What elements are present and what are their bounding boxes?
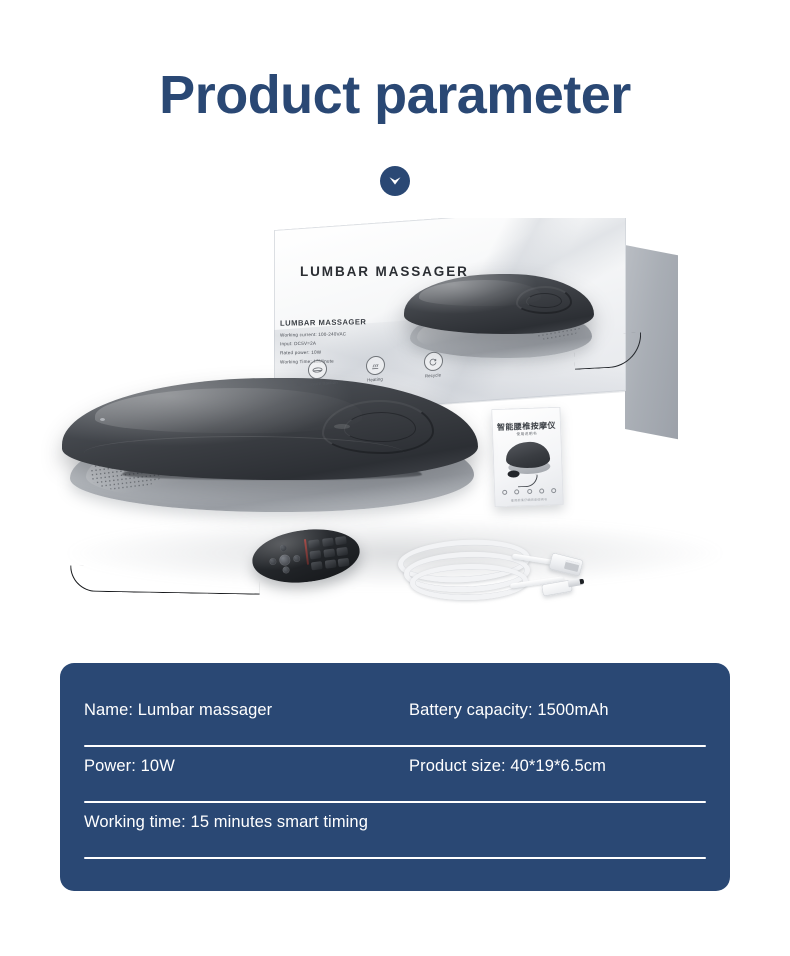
manual-footer: 使用前请仔细阅读说明书 <box>494 497 563 503</box>
spec-row: Working time: 15 minutes smart timing <box>84 813 706 869</box>
lumbar-massager-device <box>62 378 482 513</box>
cycle-icon <box>424 351 443 371</box>
chevron-down-icon[interactable] <box>380 166 410 196</box>
device-upper-shell <box>62 378 478 480</box>
manual-subtitle: 使用说明书 <box>492 431 561 438</box>
spec-panel: Name: Lumbar massager Battery capacity: … <box>60 663 730 891</box>
spec-row: Power: 10W Product size: 40*19*6.5cm <box>84 757 706 813</box>
air-pressure-traction-icon <box>308 359 327 379</box>
manual-device-illustration <box>505 441 550 469</box>
remote-key <box>322 538 334 548</box>
spec-product-size: Product size: 40*19*6.5cm <box>409 757 606 776</box>
spec-divider <box>84 857 706 859</box>
remote-dpad <box>267 544 304 576</box>
spec-battery-capacity: Battery capacity: 1500mAh <box>409 701 609 720</box>
manual-icon <box>502 490 507 495</box>
box-side-title: LUMBAR MASSAGER <box>280 317 366 328</box>
heating-icon <box>366 355 385 375</box>
feature-badge: Recycle <box>410 350 456 380</box>
box-side-spec: Rated power: 10W <box>280 350 321 356</box>
remote-control-cord <box>70 565 260 594</box>
instruction-manual: 智能腰椎按摩仪 使用说明书 使用前请仔细阅读说明书 <box>491 407 563 507</box>
spec-name: Name: Lumbar massager <box>84 701 272 720</box>
spec-divider <box>84 801 706 803</box>
shell-seam <box>84 436 404 470</box>
manual-icon <box>539 488 544 493</box>
manual-feature-icons <box>502 488 556 495</box>
manual-icon <box>551 488 556 493</box>
remote-key <box>336 547 348 557</box>
remote-key <box>323 548 335 558</box>
usb-a-connector <box>548 552 583 576</box>
remote-key <box>309 550 321 560</box>
device-led-indicator <box>100 418 105 421</box>
remote-keypad <box>308 536 349 570</box>
usb-charging-cable <box>392 536 592 612</box>
dc-barrel-tip <box>568 578 585 588</box>
manual-cord-illustration <box>518 475 538 488</box>
spec-power: Power: 10W <box>84 757 175 776</box>
remote-key <box>338 557 350 567</box>
remote-key <box>308 539 320 549</box>
spec-working-time: Working time: 15 minutes smart timing <box>84 813 368 832</box>
feature-badge: Heating <box>352 354 398 384</box>
feature-badge: Air pressure traction <box>294 358 340 388</box>
remote-power-button <box>279 554 291 566</box>
remote-down-button <box>282 566 290 574</box>
box-front-title: LUMBAR MASSAGER <box>300 264 469 279</box>
shell-contour-inner <box>344 412 416 442</box>
remote-right-button <box>293 555 301 563</box>
manual-icon <box>514 489 519 494</box>
manual-icon <box>527 489 532 494</box>
remote-key <box>311 561 323 571</box>
cable-coil <box>410 563 529 601</box>
shell-dimple <box>334 424 350 429</box>
remote-key <box>335 536 347 546</box>
remote-key <box>324 559 336 569</box>
shell-highlight <box>95 388 361 433</box>
page-title: Product parameter <box>0 66 790 124</box>
spec-row: Name: Lumbar massager Battery capacity: … <box>84 701 706 757</box>
remote-up-button <box>279 544 287 552</box>
product-photo: LUMBAR MASSAGER Air pressure tra <box>0 218 790 646</box>
spec-divider <box>84 745 706 747</box>
remote-left-button <box>269 558 277 566</box>
box-side-spec: Input: DC5V=2A <box>280 341 316 347</box>
